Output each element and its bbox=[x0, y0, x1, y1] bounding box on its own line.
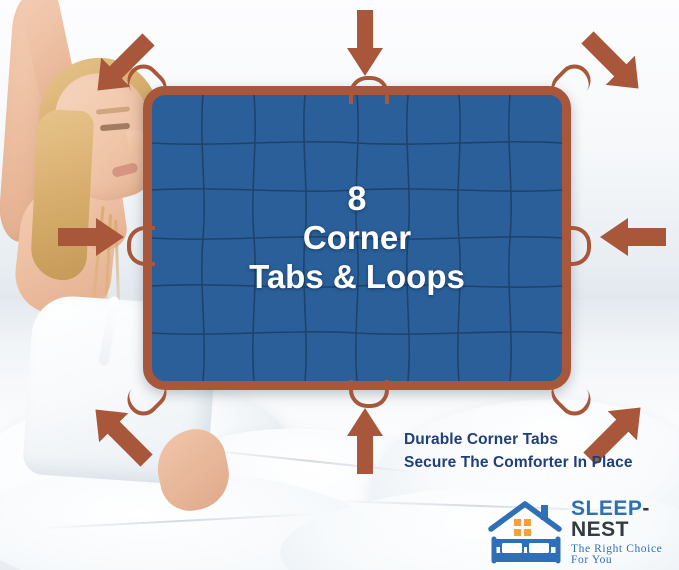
brand-wordmark: SLEEP-NEST The Right Choice For You bbox=[571, 498, 677, 567]
brand-tagline: The Right Choice For You bbox=[571, 544, 677, 567]
arrow-right-center bbox=[598, 214, 668, 260]
brand-name-part1: SLEEP bbox=[571, 497, 642, 520]
arrow-left-center bbox=[56, 214, 126, 260]
brand-name: SLEEP-NEST bbox=[571, 498, 677, 540]
brand-name-part2: NEST bbox=[571, 518, 629, 541]
comforter: 8 Corner Tabs & Loops bbox=[143, 86, 571, 390]
arrow-top-right bbox=[570, 20, 656, 106]
loop-top-center bbox=[349, 76, 389, 104]
headline-number: 8 bbox=[152, 180, 562, 219]
product-infographic: 8 Corner Tabs & Loops bbox=[0, 0, 679, 570]
headline-line-2: Corner bbox=[152, 219, 562, 257]
headline-line-3: Tabs & Loops bbox=[152, 258, 562, 296]
caption-line-1: Durable Corner Tabs bbox=[404, 428, 633, 451]
house-bed-icon bbox=[487, 499, 565, 565]
caption-line-2: Secure The Comforter In Place bbox=[404, 451, 633, 474]
brand-name-dash: - bbox=[642, 497, 650, 520]
brand-logo: SLEEP-NEST The Right Choice For You bbox=[487, 498, 677, 566]
arrow-bottom-left bbox=[78, 392, 164, 478]
comforter-headline: 8 Corner Tabs & Loops bbox=[152, 180, 562, 296]
arrow-top-left bbox=[80, 22, 166, 108]
arrow-top-center bbox=[345, 8, 385, 78]
arrow-bottom-center bbox=[345, 406, 385, 476]
loop-left-center bbox=[127, 226, 155, 266]
caption-block: Durable Corner Tabs Secure The Comforter… bbox=[404, 428, 633, 475]
